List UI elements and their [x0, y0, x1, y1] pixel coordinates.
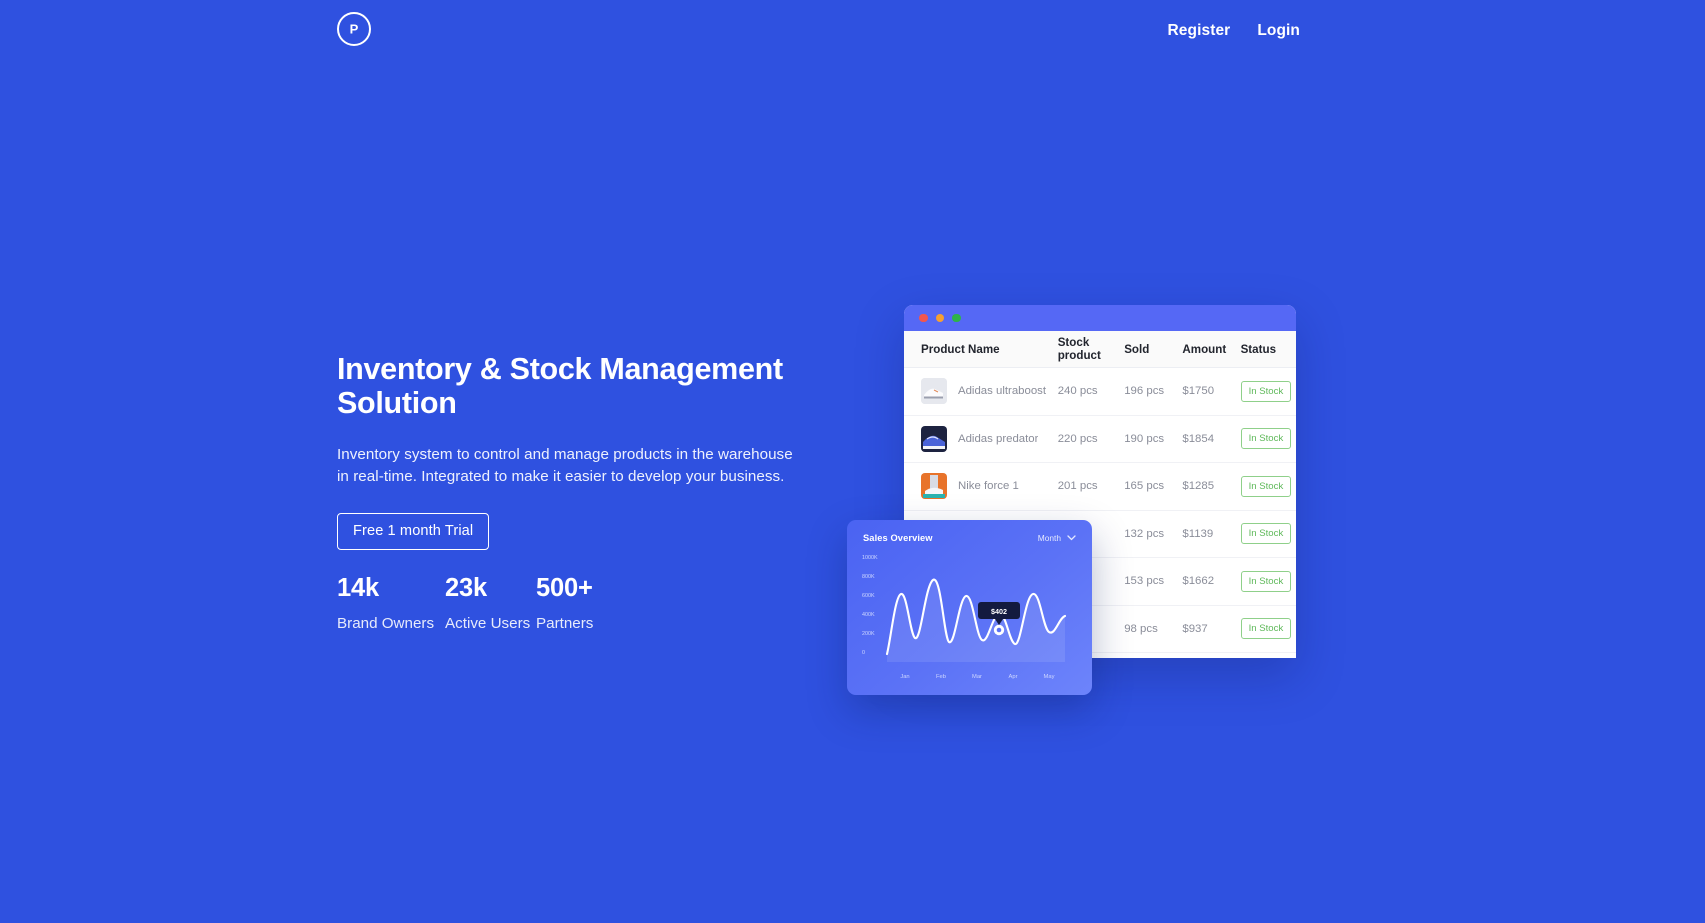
- stat-label: Active Users: [445, 615, 536, 632]
- x-tick-jan: Jan: [900, 674, 909, 680]
- y-tick-600k: 600K: [862, 593, 875, 599]
- amount-value: $1750: [1182, 385, 1240, 397]
- tooltip-value: $402: [991, 607, 1007, 616]
- column-header-amount: Amount: [1182, 343, 1240, 356]
- amount-value: $1662: [1182, 575, 1240, 587]
- hero-stats: 14k Brand Owners 23k Active Users 500+ P…: [337, 576, 837, 632]
- product-name: Adidas ultraboost: [958, 385, 1046, 397]
- stat-value: 23k: [445, 576, 536, 602]
- x-tick-apr: Apr: [1008, 674, 1017, 680]
- product-name: Nike force 1: [958, 480, 1019, 492]
- x-tick-mar: Mar: [972, 674, 982, 680]
- stock-value: 240 pcs: [1058, 385, 1125, 397]
- stat-value: 14k: [337, 576, 445, 602]
- sold-value: 98 pcs: [1124, 623, 1182, 635]
- sold-value: 165 pcs: [1124, 480, 1182, 492]
- column-header-product-name: Product Name: [921, 343, 1058, 356]
- amount-value: $937: [1182, 623, 1240, 635]
- stat-label: Brand Owners: [337, 615, 445, 632]
- page-title: Inventory & Stock Management Solution: [337, 352, 827, 420]
- top-navigation: P Register Login: [0, 0, 1705, 70]
- sales-overview-card: Sales Overview Month 1000K 800K 600K 400…: [847, 520, 1092, 695]
- landing-page: P Register Login Inventory & Stock Manag…: [0, 0, 1705, 923]
- chevron-down-icon: [1067, 535, 1076, 541]
- window-maximize-icon[interactable]: [952, 314, 961, 323]
- y-tick-200k: 200K: [862, 631, 875, 637]
- stock-value: 220 pcs: [1058, 433, 1125, 445]
- amount-value: $1285: [1182, 480, 1240, 492]
- stock-value: 201 pcs: [1058, 480, 1125, 492]
- status-badge: In Stock: [1241, 476, 1292, 497]
- chart-tooltip: $402: [978, 602, 1020, 625]
- y-tick-0: 0: [862, 650, 865, 656]
- product-thumbnail: [921, 426, 947, 452]
- chart-point-inner: [997, 628, 1002, 633]
- status-badge: In Stock: [1241, 618, 1292, 639]
- table-row[interactable]: Adidas predator 220 pcs 190 pcs $1854 In…: [904, 416, 1296, 464]
- sales-card-header: Sales Overview Month: [847, 520, 1092, 543]
- hero-section: Inventory & Stock Management Solution In…: [337, 352, 837, 632]
- window-close-icon[interactable]: [919, 314, 928, 323]
- x-tick-may: May: [1044, 674, 1055, 680]
- stat-label: Partners: [536, 615, 593, 632]
- product-thumbnail: [921, 378, 947, 404]
- sales-card-title: Sales Overview: [863, 533, 933, 543]
- status-badge: In Stock: [1241, 381, 1292, 402]
- free-trial-button[interactable]: Free 1 month Trial: [337, 513, 489, 550]
- nav-links: Register Login: [1167, 22, 1705, 40]
- period-selector[interactable]: Month: [1038, 533, 1076, 543]
- nav-link-login[interactable]: Login: [1257, 22, 1300, 40]
- status-badge: In Stock: [1241, 428, 1292, 449]
- sold-value: 153 pcs: [1124, 575, 1182, 587]
- x-tick-feb: Feb: [936, 674, 946, 680]
- brand-logo-icon[interactable]: P: [337, 12, 371, 46]
- stat-value: 500+: [536, 576, 593, 602]
- status-badge: In Stock: [1241, 571, 1292, 592]
- hero-subtitle: Inventory system to control and manage p…: [337, 444, 807, 487]
- status-badge: In Stock: [1241, 523, 1292, 544]
- sold-value: 132 pcs: [1124, 528, 1182, 540]
- table-row[interactable]: Nike force 1 201 pcs 165 pcs $1285 In St…: [904, 463, 1296, 511]
- period-label: Month: [1038, 533, 1061, 543]
- sold-value: 196 pcs: [1124, 385, 1182, 397]
- window-titlebar: [904, 305, 1296, 331]
- product-name: Adidas predator: [958, 433, 1038, 445]
- y-tick-800k: 800K: [862, 574, 875, 580]
- nav-link-register[interactable]: Register: [1167, 22, 1230, 40]
- sales-line-chart: 1000K 800K 600K 400K 200K 0 $402: [847, 550, 1092, 695]
- stat-brand-owners: 14k Brand Owners: [337, 576, 445, 632]
- stat-partners: 500+ Partners: [536, 576, 593, 632]
- svg-text:P: P: [350, 21, 359, 36]
- sold-value: 190 pcs: [1124, 433, 1182, 445]
- amount-value: $1854: [1182, 433, 1240, 445]
- stat-active-users: 23k Active Users: [445, 576, 536, 632]
- table-row[interactable]: Adidas ultraboost 240 pcs 196 pcs $1750 …: [904, 368, 1296, 416]
- amount-value: $1139: [1182, 528, 1240, 540]
- column-header-status: Status: [1241, 343, 1296, 356]
- product-thumbnail: [921, 473, 947, 499]
- window-minimize-icon[interactable]: [936, 314, 945, 323]
- y-tick-1000k: 1000K: [862, 555, 878, 561]
- column-header-sold: Sold: [1124, 343, 1182, 356]
- y-tick-400k: 400K: [862, 612, 875, 618]
- column-header-stock-product: Stock product: [1058, 336, 1125, 362]
- table-header-row: Product Name Stock product Sold Amount S…: [904, 331, 1296, 368]
